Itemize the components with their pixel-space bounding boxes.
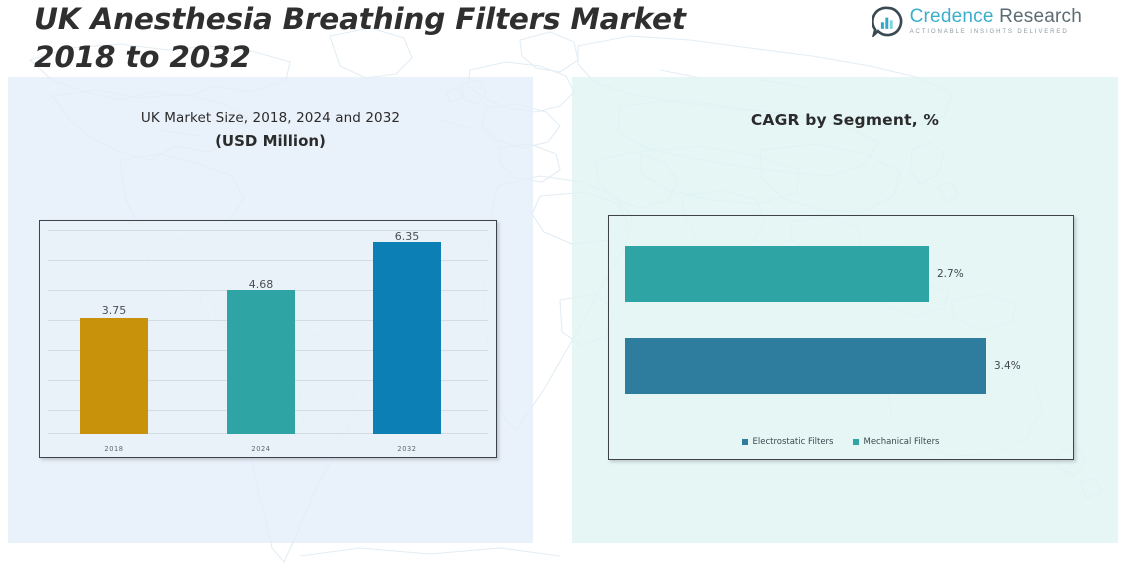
bar-value-label-mechanical: 2.7% xyxy=(937,268,964,280)
header: UK Anesthesia Breathing Filters Market 2… xyxy=(0,0,1126,78)
legend-swatch-icon xyxy=(742,439,748,445)
logo-name-part2: Research xyxy=(999,6,1082,27)
logo-text: Credence Research Actionable Insights De… xyxy=(910,7,1082,35)
bar-2032[interactable] xyxy=(373,242,441,434)
bar-2018[interactable] xyxy=(80,318,148,434)
page-title: UK Anesthesia Breathing Filters Market 2… xyxy=(34,1,754,77)
cagr-bar-chart: 2.7% 3.4% Electrostatic Filters Mechanic… xyxy=(608,215,1074,460)
infographic-root: UK Anesthesia Breathing Filters Market 2… xyxy=(0,0,1126,575)
legend-item-mechanical-filters[interactable]: Mechanical Filters xyxy=(853,437,939,447)
legend-label: Mechanical Filters xyxy=(863,437,939,447)
left-panel-title-line1: UK Market Size, 2018, 2024 and 2032 xyxy=(8,110,533,126)
left-panel-title-line2: (USD Million) xyxy=(8,132,533,150)
panel-market-size: UK Market Size, 2018, 2024 and 2032 (USD… xyxy=(8,77,533,543)
page-title-line2: 2018 to 2032 xyxy=(34,39,754,77)
right-panel-title: CAGR by Segment, % xyxy=(572,111,1118,129)
logo-bar-chart-icon xyxy=(872,6,903,37)
panel-cagr-by-segment: CAGR by Segment, % 2.7% 3.4% Electrostat… xyxy=(572,77,1118,543)
cagr-legend: Electrostatic Filters Mechanical Filters xyxy=(609,437,1073,447)
legend-label: Electrostatic Filters xyxy=(752,437,833,447)
x-axis-tick-2018: 2018 xyxy=(69,445,159,453)
logo-name: Credence Research xyxy=(910,7,1082,26)
bar-mechanical-filters[interactable] xyxy=(625,246,929,302)
logo-tagline: Actionable Insights Delivered xyxy=(910,29,1082,35)
x-axis-tick-2032: 2032 xyxy=(362,445,452,453)
bar-value-label: 3.75 xyxy=(69,304,159,317)
legend-swatch-icon xyxy=(853,439,859,445)
brand-logo[interactable]: Credence Research Actionable Insights De… xyxy=(872,6,1082,37)
market-size-plot-area: 3.75 2018 4.68 2024 6.35 2032 xyxy=(40,221,496,457)
market-size-bar-chart: 3.75 2018 4.68 2024 6.35 2032 xyxy=(39,220,497,458)
logo-name-part1: Credence xyxy=(910,6,994,27)
page-title-line1: UK Anesthesia Breathing Filters Market xyxy=(34,1,754,39)
cagr-plot-area: 2.7% 3.4% Electrostatic Filters Mechanic… xyxy=(609,216,1073,459)
legend-item-electrostatic-filters[interactable]: Electrostatic Filters xyxy=(742,437,833,447)
bar-value-label-electrostatic: 3.4% xyxy=(994,360,1021,372)
x-axis-tick-2024: 2024 xyxy=(216,445,306,453)
bar-electrostatic-filters[interactable] xyxy=(625,338,986,394)
bar-2024[interactable] xyxy=(227,290,295,434)
